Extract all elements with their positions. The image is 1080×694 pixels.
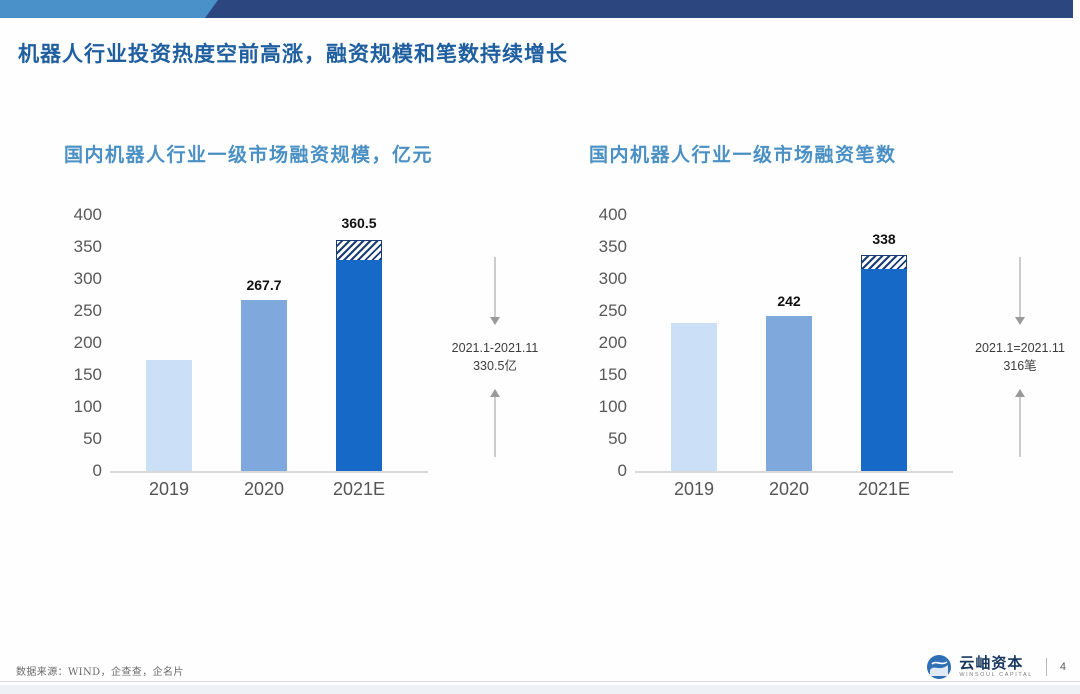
y-tick: 300 xyxy=(74,269,102,289)
brand-lockup: 云岫资本 WINSOUL CAPITAL 4 xyxy=(926,654,1066,680)
page-number: 4 xyxy=(1060,661,1066,673)
arrow-down-icon xyxy=(1015,317,1025,325)
bar-solid-segment xyxy=(671,323,717,472)
bar-value-label: 360.5 xyxy=(341,215,376,231)
chart-title-financing-scale: 国内机器人行业一级市场融资规模，亿元 xyxy=(64,140,560,167)
bar-2021e[interactable]: 360.5 xyxy=(336,240,382,471)
y-tick: 350 xyxy=(74,237,102,257)
y-axis-financing-count: 400 350 300 250 200 150 100 50 0 xyxy=(575,215,627,471)
annotation-period: 2021.1-2021.11 xyxy=(452,341,539,355)
y-tick: 50 xyxy=(83,429,102,449)
page-title: 机器人行业投资热度空前高涨，融资规模和笔数持续增长 xyxy=(18,38,568,68)
plot-area-financing-count: 400 350 300 250 200 150 100 50 0 242 xyxy=(575,215,1075,515)
y-tick: 150 xyxy=(74,365,102,385)
annotation-line-bottom xyxy=(1020,395,1021,457)
bar-2021e[interactable]: 338 xyxy=(861,255,907,471)
y-tick: 0 xyxy=(618,461,627,481)
bar-value-label: 242 xyxy=(777,293,800,309)
brand-text: 云岫资本 WINSOUL CAPITAL xyxy=(959,656,1033,679)
x-axis-line-financing-count xyxy=(635,471,953,473)
bar-2020[interactable]: 267.7 xyxy=(241,300,287,471)
top-banner xyxy=(0,0,1080,20)
y-tick: 250 xyxy=(599,301,627,321)
chart-title-financing-count: 国内机器人行业一级市场融资笔数 xyxy=(589,140,1075,167)
annotation-line-bottom xyxy=(495,395,496,457)
arrow-down-icon xyxy=(490,317,500,325)
annotation-value: 316笔 xyxy=(1003,359,1036,373)
y-tick: 400 xyxy=(599,205,627,225)
bars-financing-count: 242 338 xyxy=(635,215,915,471)
x-tick-2019: 2019 xyxy=(674,479,714,500)
chart-panel-financing-scale: 国内机器人行业一级市场融资规模，亿元 400 350 300 250 200 1… xyxy=(50,140,560,560)
bar-value-label: 267.7 xyxy=(246,277,281,293)
annotation-line-top xyxy=(1020,257,1021,319)
winsoul-logo-icon xyxy=(926,654,952,680)
bar-solid-segment xyxy=(146,360,192,471)
y-tick: 200 xyxy=(74,333,102,353)
annotation-text: 2021.1-2021.11 330.5亿 xyxy=(452,339,539,375)
y-tick: 250 xyxy=(74,301,102,321)
y-tick: 50 xyxy=(608,429,627,449)
annotation-period: 2021.1=2021.11 xyxy=(975,341,1065,355)
y-tick: 300 xyxy=(599,269,627,289)
x-tick-2021e: 2021E xyxy=(333,479,385,500)
x-tick-2020: 2020 xyxy=(769,479,809,500)
bar-2019[interactable] xyxy=(671,323,717,472)
bar-value-label: 338 xyxy=(872,231,895,247)
annotation-financing-scale: 2021.1-2021.11 330.5亿 xyxy=(435,257,555,457)
y-tick: 400 xyxy=(74,205,102,225)
chart-panel-financing-count: 国内机器人行业一级市场融资笔数 400 350 300 250 200 150 … xyxy=(575,140,1075,560)
brand-name-en: WINSOUL CAPITAL xyxy=(959,673,1033,679)
y-tick: 150 xyxy=(599,365,627,385)
annotation-value: 330.5亿 xyxy=(473,359,517,373)
x-tick-2021e: 2021E xyxy=(858,479,910,500)
bar-hatched-segment xyxy=(861,255,907,269)
x-tick-2020: 2020 xyxy=(244,479,284,500)
bar-solid-segment xyxy=(336,260,382,472)
y-tick: 350 xyxy=(599,237,627,257)
brand-name-cn: 云岫资本 xyxy=(959,656,1033,671)
source-note: 数据来源：WIND，企查查，企名片 xyxy=(16,663,184,678)
y-tick: 100 xyxy=(74,397,102,417)
bottom-strip xyxy=(0,685,1080,694)
y-tick: 200 xyxy=(599,333,627,353)
y-tick: 0 xyxy=(93,461,102,481)
annotation-text: 2021.1=2021.11 316笔 xyxy=(975,339,1065,375)
annotation-line-top xyxy=(495,257,496,319)
x-axis-line-financing-scale xyxy=(110,471,428,473)
bar-2019[interactable] xyxy=(146,360,192,471)
x-tick-2019: 2019 xyxy=(149,479,189,500)
bar-2020[interactable]: 242 xyxy=(766,316,812,471)
y-axis-financing-scale: 400 350 300 250 200 150 100 50 0 xyxy=(50,215,102,471)
annotation-financing-count: 2021.1=2021.11 316笔 xyxy=(960,257,1080,457)
bar-hatched-segment xyxy=(336,240,382,259)
y-tick: 100 xyxy=(599,397,627,417)
plot-area-financing-scale: 400 350 300 250 200 150 100 50 0 267.7 xyxy=(50,215,560,515)
brand-divider xyxy=(1046,658,1047,676)
bar-solid-segment xyxy=(766,316,812,471)
bar-solid-segment xyxy=(861,269,907,471)
bars-financing-scale: 267.7 360.5 xyxy=(110,215,390,471)
slide: 机器人行业投资热度空前高涨，融资规模和笔数持续增长 国内机器人行业一级市场融资规… xyxy=(0,0,1080,694)
footer-divider xyxy=(0,681,1080,682)
bar-solid-segment xyxy=(241,300,287,471)
